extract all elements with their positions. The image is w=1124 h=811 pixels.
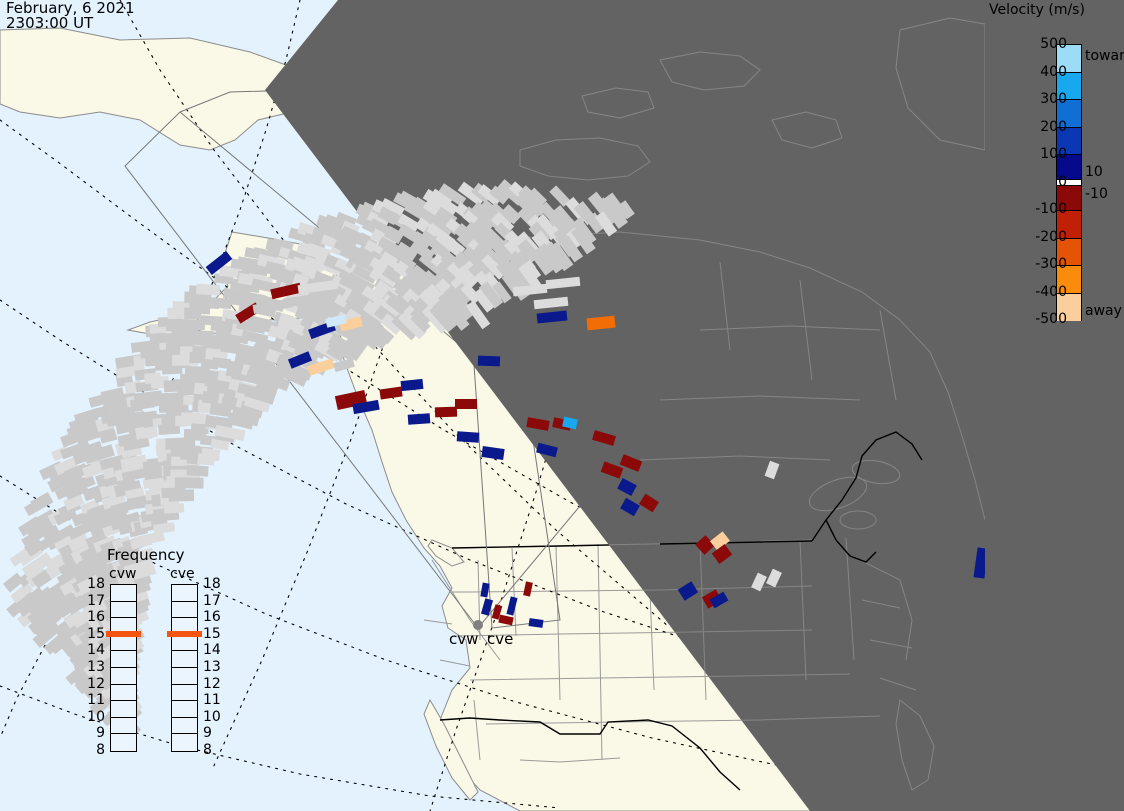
frequency-scale-label-right: 12 [203,676,221,692]
ground-scatter-cell [201,448,220,462]
frequency-marker-cvw [106,631,141,637]
colorbar-away-label: away [1085,303,1122,319]
map-canvas[interactable]: cvw cve Frequency cvw cve 18181717161615… [0,0,985,811]
colorbar-pos-threshold-label: 10 [1085,164,1103,180]
frequency-scale-label-left: 9 [81,725,105,741]
colorbar-title: Velocity (m/s) [989,2,1124,18]
frequency-cell [172,685,197,702]
frequency-scale-label-left: 8 [81,742,105,758]
colorbar-tick: -300 [1035,256,1067,272]
frequency-scale-label-left: 18 [81,576,105,592]
colorbar-tick: 400 [1040,64,1067,80]
superdarn-map-view: cvw cve Frequency cvw cve 18181717161615… [0,0,1124,811]
frequency-marker-cve [167,631,202,637]
velocity-cell [435,407,457,418]
frequency-scale-label-left: 11 [81,692,105,708]
frequency-cell [111,701,136,718]
title-time: 2303:00 UT [6,16,135,31]
site-label-cvw: cvw [449,630,478,648]
colorbar-neg-threshold-label: -10 [1085,186,1108,202]
velocity-cell [408,413,431,425]
velocity-cell [478,356,500,367]
frequency-legend-title: Frequency [107,546,185,564]
frequency-cell [172,602,197,619]
frequency-cell [172,585,197,602]
colorbar-toward-label: toward [1085,48,1124,64]
ground-scatter-cell [164,503,184,514]
colorbar-panel: Velocity (m/s) 5004003002001000-100-200-… [985,0,1124,811]
frequency-cell [111,651,136,668]
frequency-scale-label-right: 10 [203,709,221,725]
frequency-legend: Frequency cvw cve 1818171716161515141413… [85,546,245,774]
frequency-bar-cvw[interactable] [110,584,137,752]
radar-site-marker[interactable] [473,620,483,630]
colorbar-tick: -100 [1035,201,1067,217]
frequency-scale-label-right: 17 [203,593,221,609]
frequency-scale-label-left: 13 [81,659,105,675]
site-label-cve: cve [487,630,513,648]
frequency-cell [172,701,197,718]
frequency-scale-label-left: 17 [81,593,105,609]
colorbar-tick: 300 [1040,91,1067,107]
frequency-bar-cve[interactable] [171,584,198,752]
velocity-cell [455,399,477,409]
ground-scatter-cell [196,284,220,296]
colorbar-tick: 200 [1040,119,1067,135]
frequency-cell [172,734,197,751]
frequency-scale-label-left: 12 [81,676,105,692]
frequency-cell [172,718,197,735]
frequency-scale-label-right: 15 [203,626,221,642]
frequency-scale-label-left: 15 [81,626,105,642]
frequency-cell [111,718,136,735]
frequency-scale-label-left: 10 [81,709,105,725]
ground-scatter-cell [186,465,208,477]
frequency-column-header-cve: cve [170,566,195,582]
frequency-cell [111,668,136,685]
velocity-cell [457,431,480,443]
frequency-scale-label-left: 14 [81,642,105,658]
frequency-scale-label-right: 18 [203,576,221,592]
frequency-cell [111,685,136,702]
colorbar-tick: -400 [1035,284,1067,300]
frequency-cell [172,651,197,668]
frequency-cell [111,602,136,619]
frequency-cell [172,635,197,652]
ground-scatter-cell [175,477,204,488]
colorbar-tick: 100 [1040,146,1067,162]
frequency-scale-label-right: 8 [203,742,212,758]
ground-scatter-cell [169,489,194,501]
colorbar-tick: 500 [1040,36,1067,52]
frequency-cell [111,585,136,602]
frequency-scale-label-right: 14 [203,642,221,658]
frequency-cell [111,635,136,652]
frequency-scale-label-left: 16 [81,609,105,625]
colorbar-tick: -200 [1035,229,1067,245]
colorbar-tick: -500 [1035,311,1067,327]
frequency-scale-label-right: 9 [203,725,212,741]
colorbar-tick: 0 [1058,174,1067,190]
frequency-scale-label-right: 11 [203,692,221,708]
frequency-scale-label-right: 13 [203,659,221,675]
frequency-column-header-cvw: cvw [109,566,136,582]
frequency-cell [172,668,197,685]
timestamp-title: February, 6 2021 2303:00 UT [6,1,135,31]
frequency-cell [111,734,136,751]
frequency-scale-label-right: 16 [203,609,221,625]
